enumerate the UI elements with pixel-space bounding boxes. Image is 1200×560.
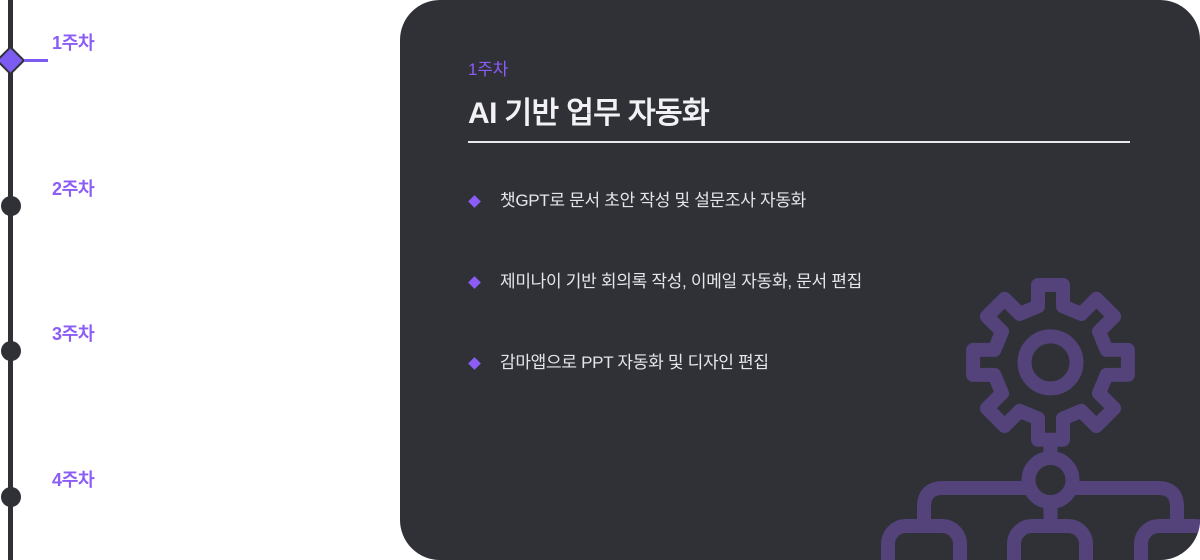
curriculum-bullet-list: 챗GPT로 문서 초안 작성 및 설문조사 자동화 제미나이 기반 회의록 작성… — [468, 190, 1168, 433]
page-title: AI 기반 업무 자동화 — [468, 88, 709, 132]
dot-marker-icon — [1, 196, 21, 216]
list-item: 제미나이 기반 회의록 작성, 이메일 자동화, 문서 편집 — [468, 271, 1168, 352]
list-item: 챗GPT로 문서 초안 작성 및 설문조사 자동화 — [468, 190, 1168, 271]
week-detail-card: 1주차 AI 기반 업무 자동화 챗GPT로 문서 초안 작성 및 설문조사 자… — [400, 0, 1200, 560]
dot-marker-icon — [1, 487, 21, 507]
timeline-label-week-2: 2주차 — [52, 175, 94, 201]
timeline-label-week-1: 1주차 — [52, 29, 94, 55]
timeline-connector-line — [24, 59, 48, 62]
card-content: 1주차 AI 기반 업무 자동화 챗GPT로 문서 초안 작성 및 설문조사 자… — [400, 0, 1200, 560]
week-timeline: 1주차 2주차 3주차 4주차 — [0, 0, 400, 560]
list-item: 감마앱으로 PPT 자동화 및 디자인 편집 — [468, 352, 1168, 433]
list-item-text: 감마앱으로 PPT 자동화 및 디자인 편집 — [500, 353, 769, 372]
diamond-marker-icon — [0, 45, 25, 75]
diamond-bullet-icon — [468, 276, 481, 289]
timeline-label-week-3: 3주차 — [52, 320, 94, 346]
dot-marker-icon — [1, 341, 21, 361]
list-item-text: 챗GPT로 문서 초안 작성 및 설문조사 자동화 — [500, 191, 806, 210]
title-divider — [468, 141, 1130, 143]
card-eyebrow-label: 1주차 — [468, 55, 508, 80]
timeline-label-week-4: 4주차 — [52, 466, 94, 492]
diamond-bullet-icon — [468, 195, 481, 208]
timeline-rail — [8, 0, 13, 560]
list-item-text: 제미나이 기반 회의록 작성, 이메일 자동화, 문서 편집 — [500, 272, 862, 291]
diamond-bullet-icon — [468, 357, 481, 370]
screen-root: 1주차 2주차 3주차 4주차 — [0, 0, 1200, 560]
